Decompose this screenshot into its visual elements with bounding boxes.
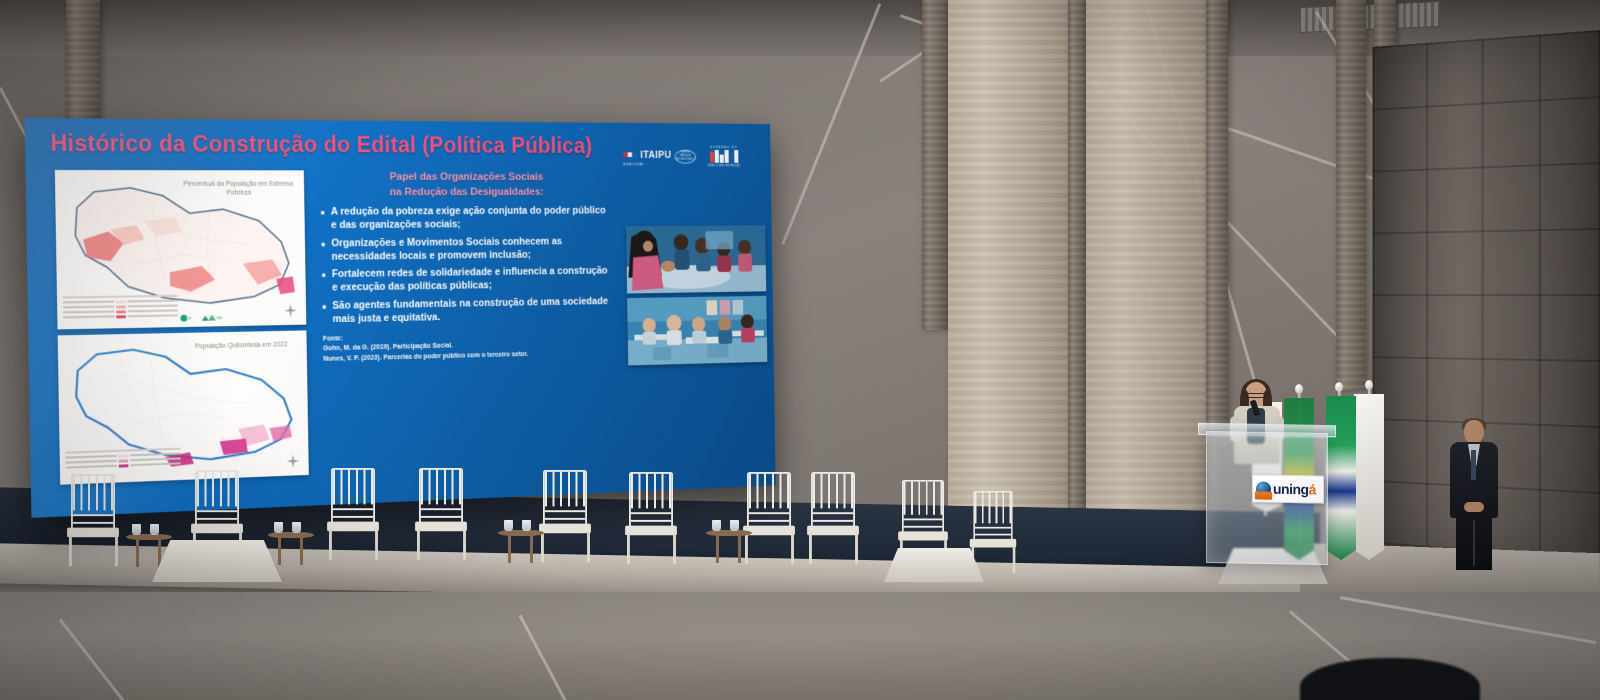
side-table bbox=[706, 530, 752, 564]
speaker-glasses bbox=[1247, 393, 1266, 398]
slide-bullet: Fortalecem redes de solidariedade e infl… bbox=[322, 266, 610, 296]
side-table bbox=[498, 530, 544, 564]
slide-sources: Fonte: Gohn, M. da G. (2019). Participaç… bbox=[323, 328, 611, 364]
gov-logo-word bbox=[710, 150, 739, 163]
slide-heading-line1: Papel das Organizações Sociais bbox=[320, 170, 608, 185]
map-extreme-poverty: Percentual da População em Extrema Pobre… bbox=[55, 170, 307, 329]
slide-photo-stack bbox=[626, 225, 767, 370]
wood-column bbox=[1206, 0, 1228, 430]
map-source-logos bbox=[179, 314, 222, 323]
itaipu-flag-icon bbox=[623, 152, 636, 158]
slide-surface: Histórico da Construção do Edital (Polít… bbox=[25, 118, 776, 518]
wood-column bbox=[1086, 0, 1206, 560]
map-quilombola-population: População Quilombola em 2022 bbox=[58, 330, 309, 484]
stage-chair[interactable] bbox=[803, 472, 863, 564]
bullet-dot-icon bbox=[322, 274, 326, 278]
map-legend bbox=[63, 294, 178, 326]
conference-scene: Histórico da Construção do Edital (Polít… bbox=[0, 0, 1600, 700]
attendant-tie bbox=[1471, 450, 1476, 480]
itaipu-subtext: BINACIONAL bbox=[623, 163, 671, 167]
stage-chair[interactable] bbox=[535, 470, 595, 562]
stage-chair[interactable] bbox=[411, 468, 471, 560]
uninga-wordmark: uningá bbox=[1273, 482, 1316, 497]
slide-bullet-text: São agentes fundamentais na construção d… bbox=[332, 296, 610, 327]
slide-heading: Papel das Organizações Sociais na Reduçã… bbox=[320, 170, 609, 200]
uninga-orb-icon bbox=[1256, 481, 1271, 496]
water-cup bbox=[712, 520, 721, 531]
slide-bullet: Organizações e Movimentos Sociais conhec… bbox=[321, 235, 610, 264]
itaipu-badge: ITAIPU PARQUE TECNOLÓGICO bbox=[675, 149, 697, 163]
slide-bullet: A redução da pobreza exige ação conjunta… bbox=[321, 205, 610, 233]
water-cup bbox=[292, 522, 301, 533]
bullet-dot-icon bbox=[321, 242, 325, 246]
flagpole-finial bbox=[1365, 380, 1373, 390]
gov-logo-top: GOVERNO DO bbox=[710, 145, 737, 149]
flag-parana bbox=[1326, 396, 1356, 560]
podium-brand-plate: uningá bbox=[1252, 474, 1324, 503]
wood-column bbox=[1068, 0, 1086, 560]
attendant-head bbox=[1464, 420, 1484, 444]
flagpole-finial bbox=[1295, 384, 1303, 394]
gov-logo-sub: UNIÃO E RECONSTRUÇÃO bbox=[708, 164, 741, 168]
itaipu-logo: ITAIPU BINACIONAL ITAIPU PARQUE TECNOLÓG… bbox=[623, 146, 696, 166]
bullet-dot-icon bbox=[322, 305, 326, 309]
compass-rose-icon bbox=[284, 304, 297, 318]
water-cup bbox=[132, 524, 141, 535]
uninga-accent-letter: á bbox=[1309, 481, 1316, 497]
slide-bullet-text: Fortalecem redes de solidariedade e infl… bbox=[332, 266, 610, 296]
stage-monitor-wedge bbox=[152, 540, 282, 582]
presentation-screen[interactable]: Histórico da Construção do Edital (Polít… bbox=[25, 118, 776, 518]
photo-classroom-students bbox=[627, 296, 767, 366]
water-cup bbox=[274, 522, 283, 533]
water-cup bbox=[730, 520, 739, 531]
map-title: Percentual da População em Extrema Pobre… bbox=[178, 180, 299, 199]
side-table bbox=[268, 532, 314, 566]
standing-attendant bbox=[1448, 420, 1500, 570]
flag-white bbox=[1354, 394, 1384, 560]
stage-chair[interactable] bbox=[621, 472, 681, 564]
slide-title: Histórico da Construção do Edital (Polít… bbox=[50, 130, 678, 160]
slide-logo-bar: ITAIPU BINACIONAL ITAIPU PARQUE TECNOLÓG… bbox=[623, 139, 761, 172]
stage-monitor-wedge bbox=[884, 548, 984, 582]
flagpole-finial bbox=[1335, 382, 1343, 392]
water-cup bbox=[150, 524, 159, 535]
wood-column bbox=[922, 0, 948, 330]
wood-column bbox=[948, 0, 1068, 570]
water-cup bbox=[522, 520, 531, 531]
water-cup bbox=[504, 520, 513, 531]
photo-workshop-handcraft bbox=[626, 225, 766, 293]
stage-chair[interactable] bbox=[323, 468, 383, 560]
attendant-leg-gap bbox=[1473, 520, 1475, 566]
wood-column bbox=[1336, 0, 1366, 390]
itaipu-wordmark: ITAIPU bbox=[640, 150, 671, 161]
attendant-hands bbox=[1464, 502, 1484, 512]
slide-bullet-text: Organizações e Movimentos Sociais conhec… bbox=[331, 235, 610, 264]
slide-text-column: Papel das Organizações Sociais na Reduçã… bbox=[320, 170, 611, 364]
stage-chair[interactable] bbox=[63, 474, 123, 566]
slide-bullet: São agentes fundamentais na construção d… bbox=[322, 296, 610, 327]
slide-bullet-text: A redução da pobreza exige ação conjunta… bbox=[331, 205, 610, 233]
gov-brasil-logo: GOVERNO DO UNIÃO E RECONSTRUÇÃO bbox=[707, 145, 740, 167]
bullet-dot-icon bbox=[321, 211, 325, 215]
slide-heading-line2: na Redução das Desigualdades: bbox=[320, 185, 608, 200]
compass-rose-icon bbox=[287, 454, 300, 468]
